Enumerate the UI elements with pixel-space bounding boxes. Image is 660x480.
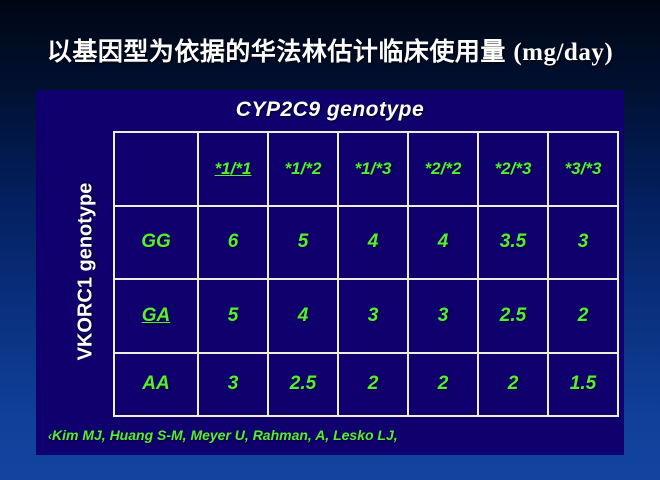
dose-cell-aa-4: 2	[408, 353, 478, 416]
dose-cell-aa-6: 1.5	[548, 353, 618, 416]
table-row: GG65443.53	[114, 206, 618, 280]
dose-cell-ga-3: 3	[338, 279, 408, 353]
dose-cell-gg-3: 4	[338, 206, 408, 280]
dose-cell-ga-6: 2	[548, 279, 618, 353]
dose-cell-gg-1: 6	[198, 206, 268, 280]
column-header-label: *2/*2	[425, 159, 462, 178]
dose-cell-ga-2: 4	[268, 279, 338, 353]
dose-cell-aa-3: 2	[338, 353, 408, 416]
dose-cell-ga-1: 5	[198, 279, 268, 353]
page-title-cjk: 以基因型为依据的华法林估计临床使用量	[47, 38, 506, 66]
row-header-label: GG	[141, 231, 171, 252]
column-header-5: *2/*3	[478, 132, 548, 206]
column-header-1: *1/*1	[198, 132, 268, 206]
dose-cell-aa-1: 3	[198, 353, 268, 416]
row-group-label: VKORC1 genotype	[75, 162, 98, 382]
table-header-row: *1/*1*1/*2*1/*3*2/*2*2/*3*3/*3	[114, 132, 618, 206]
dose-cell-ga-5: 2.5	[478, 279, 548, 353]
dose-cell-aa-5: 2	[478, 353, 548, 416]
dose-cell-aa-2: 2.5	[268, 353, 338, 416]
column-header-4: *2/*2	[408, 132, 478, 206]
column-header-label: *1/*2	[285, 159, 322, 178]
dose-cell-gg-2: 5	[268, 206, 338, 280]
column-header-label: *2/*3	[495, 159, 532, 178]
row-header-label: AA	[142, 373, 169, 394]
genotype-dose-table: *1/*1*1/*2*1/*3*2/*2*2/*3*3/*3GG65443.53…	[113, 131, 619, 417]
column-header-6: *3/*3	[548, 132, 618, 206]
page-title-unit: (mg/day)	[513, 39, 613, 66]
table-row: GA54332.52	[114, 279, 618, 353]
dose-cell-gg-4: 4	[408, 206, 478, 280]
column-header-3: *1/*3	[338, 132, 408, 206]
column-header-label: *1/*3	[355, 159, 392, 178]
genotype-table-panel: CYP2C9 genotype VKORC1 genotype *1/*1*1/…	[36, 90, 624, 455]
citation: ‹Kim MJ, Huang S-M, Meyer U, Rahman, A, …	[48, 427, 398, 443]
page-title: 以基因型为依据的华法林估计临床使用量 (mg/day)	[0, 32, 660, 68]
dose-cell-gg-5: 3.5	[478, 206, 548, 280]
table-corner-cell	[114, 132, 198, 206]
column-group-label: CYP2C9 genotype	[36, 98, 624, 122]
column-header-label: *3/*3	[565, 159, 602, 178]
row-header-ga: GA	[114, 279, 198, 353]
column-header-2: *1/*2	[268, 132, 338, 206]
dose-cell-gg-6: 3	[548, 206, 618, 280]
table-row: AA32.52221.5	[114, 353, 618, 416]
dose-cell-ga-4: 3	[408, 279, 478, 353]
column-header-label: *1/*1	[215, 159, 252, 178]
citation-text: Kim MJ, Huang S-M, Meyer U, Rahman, A, L…	[52, 427, 398, 443]
row-header-gg: GG	[114, 206, 198, 280]
row-header-aa: AA	[114, 353, 198, 416]
row-header-label: GA	[142, 305, 171, 326]
